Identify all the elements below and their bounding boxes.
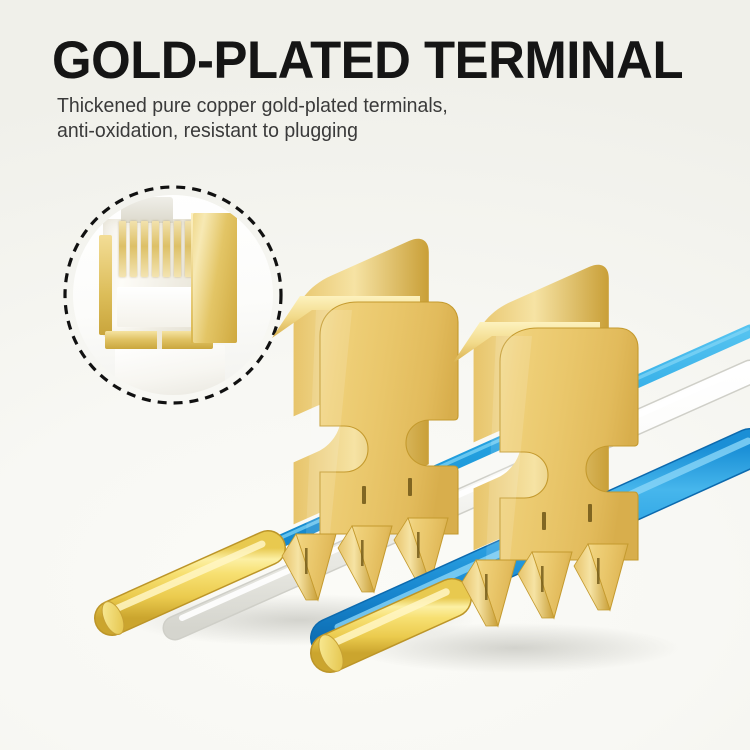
product-feature-banner: GOLD-PLATED TERMINAL Thickened pure copp… bbox=[0, 0, 750, 750]
gold-terminal-blade-left bbox=[272, 232, 458, 600]
terminal-scene bbox=[0, 0, 750, 750]
gold-terminal-blade-right bbox=[452, 258, 638, 626]
